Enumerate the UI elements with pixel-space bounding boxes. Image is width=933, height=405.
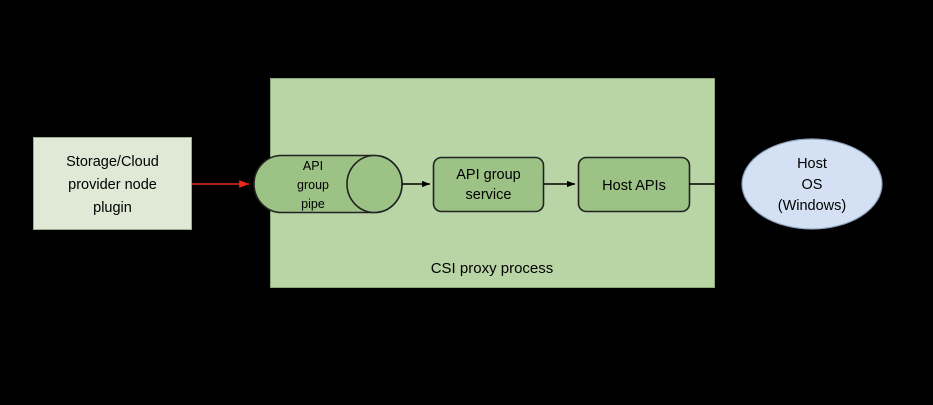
api-group-pipe-cap [347, 156, 402, 213]
node-plugin-box[interactable]: Storage/Cloud provider node plugin [34, 138, 192, 230]
api-group-service-label-line2: service [466, 187, 512, 203]
api-group-service-label-line1: API group [456, 167, 521, 183]
host-apis-box[interactable]: Host APIs [579, 158, 690, 212]
host-os-label-line3: (Windows) [778, 198, 846, 214]
host-os-label-line2: OS [802, 177, 823, 193]
diagram-canvas: CSI proxy process Storage/Cloud provider… [0, 0, 933, 405]
api-group-pipe-label-line1: API [303, 159, 323, 173]
node-plugin-label-line1: Storage/Cloud [66, 154, 159, 170]
api-group-pipe-label-line2: group [297, 178, 329, 192]
api-group-pipe-shape[interactable]: API group pipe [254, 156, 402, 213]
node-plugin-label-line2: provider node [68, 177, 157, 193]
api-group-service-box[interactable]: API group service [434, 158, 544, 212]
api-group-pipe-label-line3: pipe [301, 197, 325, 211]
host-apis-label-line1: Host APIs [602, 178, 666, 194]
node-plugin-label-line3: plugin [93, 200, 132, 216]
host-os-ellipse[interactable]: Host OS (Windows) [742, 139, 882, 229]
api-group-service-rect [434, 158, 544, 212]
host-os-label-line1: Host [797, 156, 827, 172]
csi-proxy-process-label: CSI proxy process [431, 260, 554, 277]
